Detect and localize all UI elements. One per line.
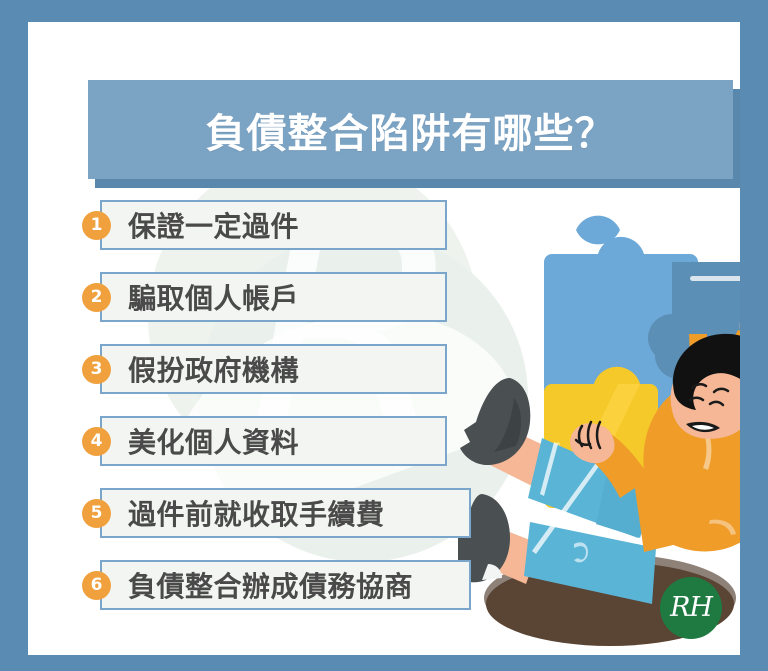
list-item-label: 假扮政府機構: [128, 344, 299, 394]
list-item[interactable]: 2 騙取個人帳戶: [72, 272, 492, 344]
list-item[interactable]: 3 假扮政府機構: [72, 344, 492, 416]
list-item[interactable]: 4 美化個人資料: [72, 416, 492, 488]
list-item-label: 騙取個人帳戶: [128, 272, 299, 322]
poster-root: R 負債整合陷阱有哪些？: [0, 0, 768, 671]
brand-logo: RH: [660, 577, 722, 639]
trap-list: 1 保證一定過件 2 騙取個人帳戶 3 假扮政府機構 4 美化個人資料 5: [72, 200, 492, 632]
list-item-number: 4: [82, 427, 111, 456]
list-item-label: 保證一定過件: [128, 200, 299, 250]
list-item-number: 6: [82, 571, 111, 600]
page-title: 負債整合陷阱有哪些？: [206, 101, 616, 159]
list-item[interactable]: 5 過件前就收取手續費: [72, 488, 492, 560]
title-banner-front: 負債整合陷阱有哪些？: [88, 80, 733, 179]
list-item-label: 負債整合辦成債務協商: [128, 560, 413, 610]
list-item-label: 過件前就收取手續費: [128, 488, 385, 538]
list-item-number: 1: [82, 211, 111, 240]
title-banner: 負債整合陷阱有哪些？: [88, 80, 740, 188]
list-item-label: 美化個人資料: [128, 416, 299, 466]
list-item[interactable]: 6 負債整合辦成債務協商: [72, 560, 492, 632]
list-item-number: 5: [82, 499, 111, 528]
list-item[interactable]: 1 保證一定過件: [72, 200, 492, 272]
list-item-number: 2: [82, 283, 111, 312]
poster-card: R 負債整合陷阱有哪些？: [28, 22, 740, 655]
list-item-number: 3: [82, 355, 111, 384]
